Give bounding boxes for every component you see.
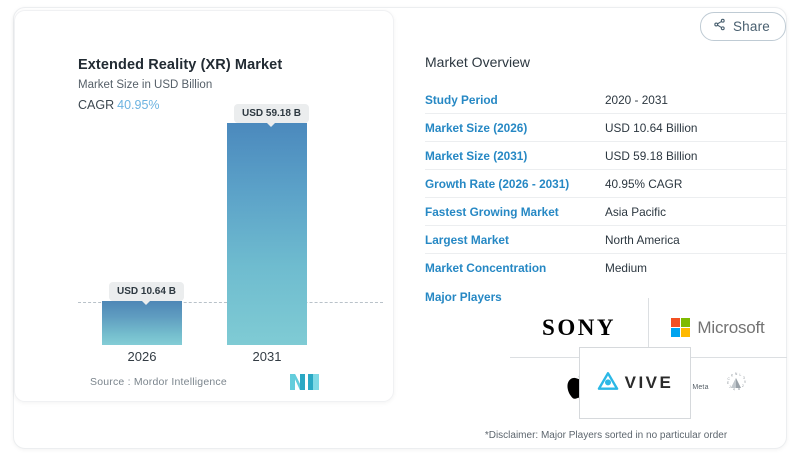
share-button[interactable]: Share [700,12,786,41]
vive-triangle-icon [597,371,619,396]
overview-table: Study Period 2020 - 2031 Market Size (20… [425,86,787,281]
disclaimer-text: *Disclaimer: Major Players sorted in no … [425,430,787,441]
market-overview-panel: Market Overview Study Period 2020 - 2031… [425,10,787,440]
share-label: Share [733,19,770,34]
row-value: Medium [605,261,647,275]
player-logo-htc-vive[interactable]: VIVE [579,347,691,419]
row-value: 2020 - 2031 [605,93,668,107]
bar-value-label-2031: USD 59.18 B [234,104,309,123]
bar-value-label-2026: USD 10.64 B [109,282,184,301]
row-label: Largest Market [425,233,605,247]
table-row: Largest Market North America [425,226,787,254]
svg-text:C: C [727,377,730,381]
meta-wordmark: Meta [692,384,708,391]
row-label: Market Size (2031) [425,149,605,163]
major-players-label: Major Players [425,290,502,304]
overview-title: Market Overview [425,54,530,70]
svg-text:E: E [727,381,729,385]
microsoft-squares-icon [671,318,690,337]
row-label: Study Period [425,93,605,107]
x-axis-tick-2026: 2026 [102,349,182,364]
svg-text:J: J [729,385,731,389]
microsoft-wordmark: Microsoft [697,318,764,338]
chart-panel: Extended Reality (XR) Market Market Size… [14,10,394,402]
row-value: USD 59.18 Billion [605,149,697,163]
svg-text:2: 2 [742,384,744,388]
row-label: Fastest Growing Market [425,205,605,219]
mordor-intelligence-logo-icon [289,373,321,391]
svg-text:V: V [744,380,747,384]
meta-quest-icon: NL 3V 2B 4J EC K [722,371,750,404]
svg-text:N: N [735,372,738,376]
vive-wordmark: VIVE [625,373,674,393]
table-row: Market Concentration Medium [425,254,787,281]
table-row: Market Size (2031) USD 59.18 Billion [425,142,787,170]
table-row: Fastest Growing Market Asia Pacific [425,198,787,226]
bar-2026[interactable] [102,301,182,345]
x-axis-tick-2031: 2031 [227,349,307,364]
table-row: Study Period 2020 - 2031 [425,86,787,114]
row-label: Market Concentration [425,261,605,275]
row-label: Market Size (2026) [425,121,605,135]
table-row: Market Size (2026) USD 10.64 Billion [425,114,787,142]
bar-2031[interactable] [227,123,307,345]
svg-text:4: 4 [733,387,735,391]
row-value: Asia Pacific [605,205,666,219]
microsoft-lockup: Microsoft [671,318,764,338]
row-value: 40.95% CAGR [605,177,682,191]
share-nodes-icon [713,18,726,36]
row-value: USD 10.64 Billion [605,121,697,135]
row-value: North America [605,233,680,247]
sony-wordmark: SONY [542,315,616,341]
svg-text:K: K [731,373,734,377]
svg-text:L: L [739,373,741,377]
table-row: Growth Rate (2026 - 2031) 40.95% CAGR [425,170,787,198]
source-text: Source : Mordor Intelligence [90,376,227,388]
row-label: Growth Rate (2026 - 2031) [425,177,605,191]
bar-chart-plot: USD 10.64 B USD 59.18 B 2026 2031 [15,11,395,403]
